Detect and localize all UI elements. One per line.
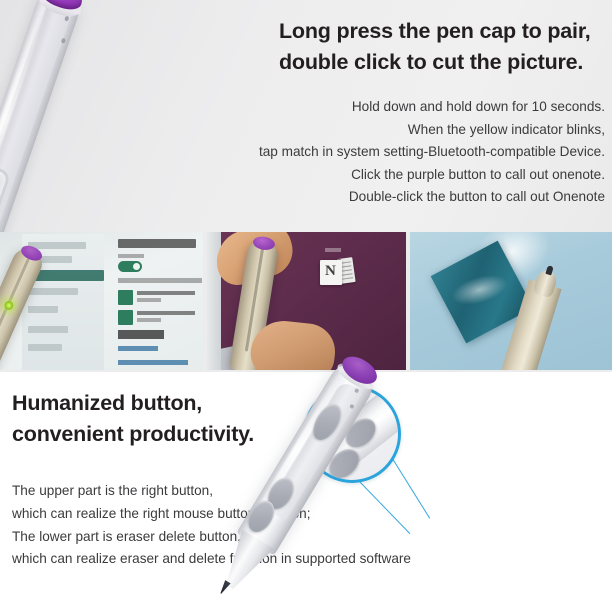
- top-headline-line-1: Long press the pen cap to pair,: [279, 16, 605, 47]
- bluetooth-toggle-label: [118, 254, 144, 258]
- top-section: Long press the pen cap to pair, double c…: [0, 0, 612, 232]
- thumbnail-bluetooth-settings: [0, 232, 203, 370]
- top-body-line: Hold down and hold down for 10 seconds.: [180, 96, 605, 119]
- screen-capture-surface: [410, 232, 612, 370]
- settings-hint-text: [118, 278, 202, 283]
- device-list-item: [118, 310, 196, 327]
- related-settings-title: [118, 330, 164, 339]
- top-headline: Long press the pen cap to pair, double c…: [279, 16, 605, 78]
- top-body-copy: Hold down and hold down for 10 seconds. …: [180, 96, 605, 209]
- bluetooth-toggle-switch: [118, 261, 142, 272]
- nav-item: [28, 306, 58, 313]
- top-body-line: When the yellow indicator blinks,: [180, 119, 605, 142]
- pen-device-icon: [118, 310, 133, 325]
- top-body-line: Click the purple button to call out onen…: [180, 164, 605, 187]
- selection-highlight: [448, 269, 511, 310]
- mouse-device-icon: [118, 290, 133, 305]
- top-body-line: tap match in system setting-Bluetooth-co…: [180, 141, 605, 164]
- nav-item: [28, 288, 78, 295]
- thumbnail-strip: N: [0, 232, 612, 372]
- purple-tablet-screen: N: [207, 232, 406, 370]
- hand-holding-pen: [213, 232, 323, 370]
- nav-item: [28, 344, 62, 351]
- device-list-item: [118, 290, 196, 307]
- bottom-body-line: which can realize the right mouse button…: [12, 503, 442, 526]
- bottom-headline-line-1: Humanized button,: [12, 388, 332, 419]
- onenote-letter: N: [325, 264, 336, 279]
- top-body-line: Double-click the button to call out Onen…: [180, 186, 605, 209]
- onenote-card: N: [320, 260, 342, 285]
- bluetooth-settings-screen: [0, 232, 203, 370]
- related-settings-link: [118, 360, 188, 365]
- device-name: [137, 291, 195, 295]
- onenote-icon: N: [320, 258, 354, 286]
- device-name: [137, 311, 195, 315]
- thumbnail-onenote-launch: N: [207, 232, 406, 370]
- device-status: [137, 318, 161, 322]
- product-feature-image: Long press the pen cap to pair, double c…: [0, 0, 612, 612]
- settings-page-title: [118, 239, 196, 248]
- onenote-caption: [325, 248, 341, 252]
- related-settings-link: [118, 346, 158, 351]
- nav-item: [28, 326, 68, 333]
- device-status: [137, 298, 161, 302]
- top-headline-line-2: double click to cut the picture.: [279, 47, 605, 78]
- thumbnail-screenshot-cut: [410, 232, 612, 370]
